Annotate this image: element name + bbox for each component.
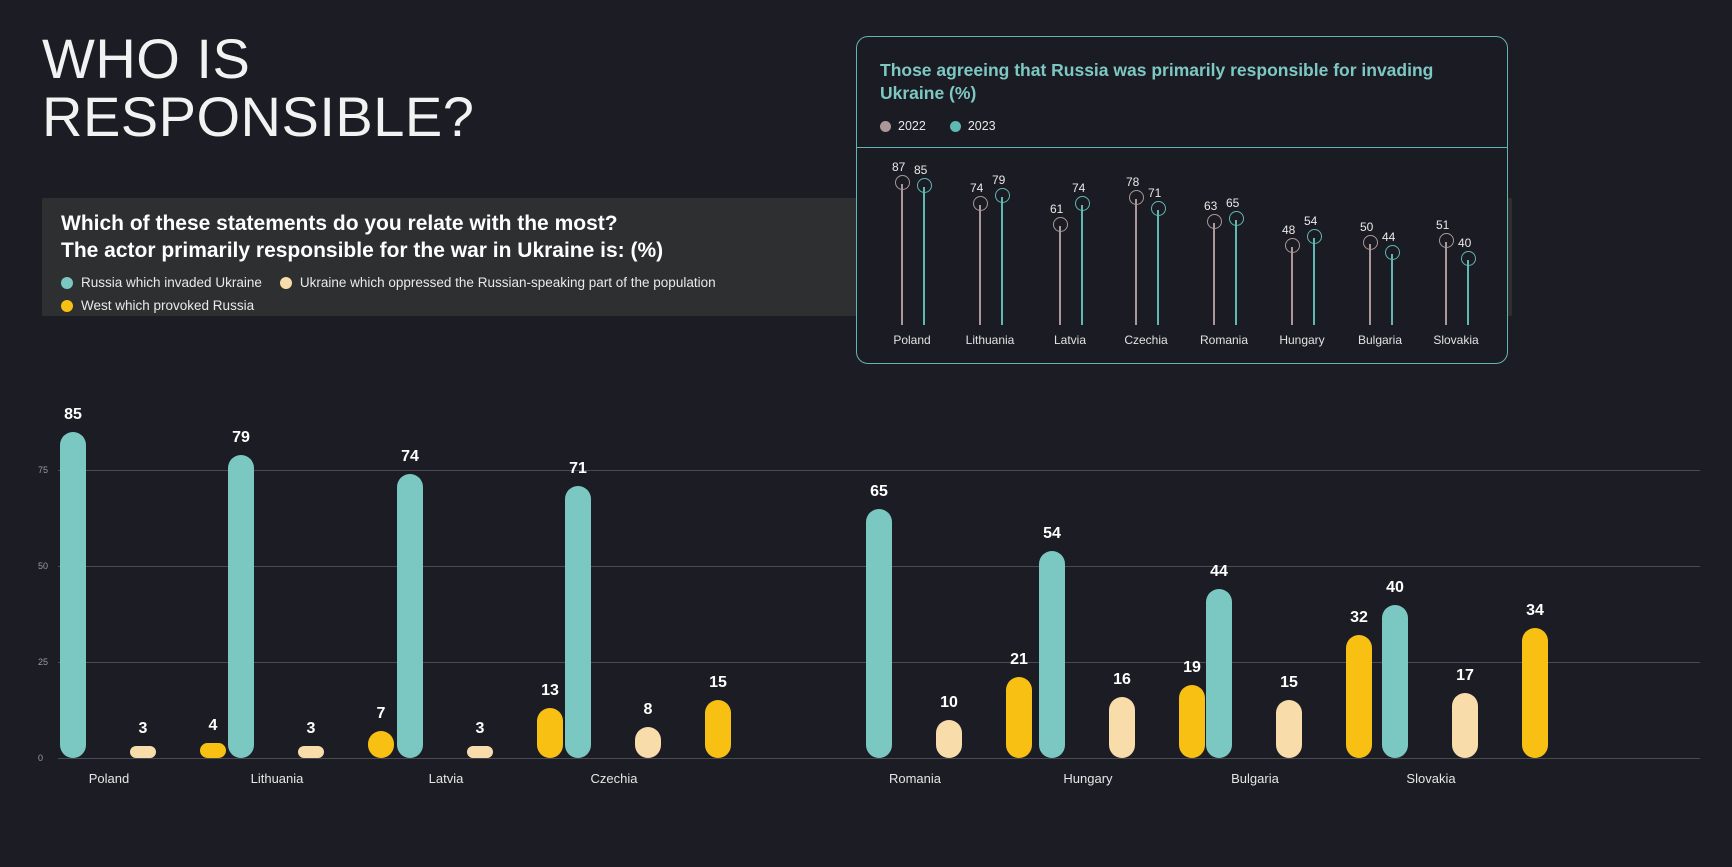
- lollipop-head[interactable]: [973, 196, 988, 211]
- inset-divider: [857, 147, 1507, 148]
- bar-column[interactable]: 3: [298, 390, 324, 758]
- bar[interactable]: [298, 746, 324, 758]
- bar-value-label: 54: [1043, 525, 1061, 543]
- lollipop-value-label: 87: [892, 160, 905, 174]
- lollipop-head[interactable]: [1385, 245, 1400, 260]
- inset-panel: Those agreeing that Russia was primarily…: [856, 36, 1508, 364]
- lollipop-group: 5140Slovakia: [1439, 152, 1509, 363]
- bar-group: 401734Slovakia: [1382, 330, 1542, 800]
- lollipop-stem: [1445, 242, 1447, 325]
- x-axis-category-label: Czechia: [549, 771, 679, 786]
- bar[interactable]: [397, 474, 423, 758]
- legend-label-west: West which provoked Russia: [81, 298, 254, 313]
- lollipop-stem: [1291, 247, 1293, 325]
- lollipop-value-label: 63: [1204, 199, 1217, 213]
- lollipop-head[interactable]: [1129, 190, 1144, 205]
- legend-label-ukraine: Ukraine which oppressed the Russian-spea…: [300, 275, 716, 290]
- bar-plot-area: 8534Poland7937Lithuania74313Latvia71815C…: [58, 330, 1700, 800]
- bar-value-label: 15: [709, 674, 727, 692]
- lollipop-stem: [1213, 223, 1215, 325]
- bar-column[interactable]: 7: [368, 390, 394, 758]
- bar-column[interactable]: 19: [1179, 390, 1205, 758]
- lollipop-head[interactable]: [895, 175, 910, 190]
- bar-group: 541619Hungary: [1039, 330, 1199, 800]
- lollipop-category-label: Lithuania: [959, 333, 1021, 347]
- inset-legend-item-2022[interactable]: 2022: [880, 119, 926, 133]
- inset-legend: 2022 2023: [880, 119, 1020, 133]
- bar-group: 74313Latvia: [397, 330, 557, 800]
- legend-item-ukraine[interactable]: Ukraine which oppressed the Russian-spea…: [280, 275, 716, 290]
- lollipop-stem: [979, 205, 981, 325]
- lollipop-value-label: 61: [1050, 202, 1063, 216]
- bar-value-label: 17: [1456, 667, 1474, 685]
- x-axis-category-label: Latvia: [381, 771, 511, 786]
- lollipop-stem: [1313, 238, 1315, 325]
- lollipop-head[interactable]: [1151, 201, 1166, 216]
- bar[interactable]: [1006, 677, 1032, 758]
- lollipop-group: 8785Poland: [895, 152, 965, 363]
- bar[interactable]: [537, 708, 563, 758]
- bar[interactable]: [1452, 693, 1478, 758]
- bar-value-label: 44: [1210, 563, 1228, 581]
- bar[interactable]: [368, 731, 394, 758]
- bar-value-label: 74: [401, 448, 419, 466]
- lollipop-head[interactable]: [1075, 196, 1090, 211]
- bar-group: 7937Lithuania: [228, 330, 388, 800]
- lollipop-head[interactable]: [1285, 238, 1300, 253]
- y-axis-tick-label: 50: [38, 561, 48, 571]
- y-axis-tick-label: 75: [38, 465, 48, 475]
- bar-column[interactable]: 21: [1006, 390, 1032, 758]
- bar-group: 71815Czechia: [565, 330, 725, 800]
- bar[interactable]: [936, 720, 962, 758]
- bar-column[interactable]: 16: [1109, 390, 1135, 758]
- bar-value-label: 15: [1280, 674, 1298, 692]
- lollipop-head[interactable]: [1207, 214, 1222, 229]
- bar-column[interactable]: 34: [1522, 390, 1548, 758]
- lollipop-stem: [923, 187, 925, 325]
- bar-column[interactable]: 17: [1452, 390, 1478, 758]
- bar[interactable]: [1346, 635, 1372, 758]
- bar[interactable]: [705, 700, 731, 758]
- bar-value-label: 65: [870, 483, 888, 501]
- inset-legend-label-2022: 2022: [898, 119, 926, 133]
- bar-group-bars: 441532: [1206, 390, 1366, 758]
- bar-value-label: 8: [644, 701, 653, 719]
- lollipop-stem: [1369, 244, 1371, 325]
- question-text: Which of these statements do you relate …: [61, 210, 663, 264]
- lollipop-stem: [901, 184, 903, 325]
- lollipop-category-label: Poland: [881, 333, 943, 347]
- bar[interactable]: [1382, 605, 1408, 758]
- legend-swatch-west-icon: [61, 300, 73, 312]
- bar-value-label: 13: [541, 682, 559, 700]
- bar[interactable]: [60, 432, 86, 758]
- bar-value-label: 10: [940, 694, 958, 712]
- bar-column[interactable]: 65: [866, 390, 892, 758]
- lollipop-stem: [1235, 220, 1237, 325]
- bar-value-label: 32: [1350, 609, 1368, 627]
- lollipop-value-label: 51: [1436, 218, 1449, 232]
- bar-column[interactable]: 4: [200, 390, 226, 758]
- bar[interactable]: [635, 727, 661, 758]
- lollipop-value-label: 85: [914, 163, 927, 177]
- bar[interactable]: [1179, 685, 1205, 758]
- bar[interactable]: [130, 746, 156, 758]
- bar-column[interactable]: 15: [1276, 390, 1302, 758]
- bar-group: 8534Poland: [60, 330, 220, 800]
- bar-value-label: 3: [139, 720, 148, 738]
- bar[interactable]: [200, 743, 226, 758]
- lollipop-stem: [1081, 205, 1083, 325]
- bar-value-label: 4: [209, 717, 218, 735]
- bar-column[interactable]: 85: [60, 390, 86, 758]
- x-axis-category-label: Romania: [850, 771, 980, 786]
- lollipop-group: 7479Lithuania: [973, 152, 1043, 363]
- bar[interactable]: [1039, 551, 1065, 758]
- lollipop-category-label: Czechia: [1115, 333, 1177, 347]
- bar-group-bars: 401734: [1382, 390, 1542, 758]
- lollipop-stem: [1001, 197, 1003, 325]
- inset-title: Those agreeing that Russia was primarily…: [880, 59, 1480, 105]
- lollipop-value-label: 65: [1226, 196, 1239, 210]
- lollipop-group: 7871Czechia: [1129, 152, 1199, 363]
- bar-group: 651021Romania: [866, 330, 1026, 800]
- bar-value-label: 3: [476, 720, 485, 738]
- lollipop-stem: [1059, 226, 1061, 325]
- legend-swatch-ukraine-icon: [280, 277, 292, 289]
- bar-column[interactable]: 44: [1206, 390, 1232, 758]
- lollipop-stem: [1135, 199, 1137, 325]
- bar-group-bars: 7937: [228, 390, 388, 758]
- lollipop-stem: [1391, 254, 1393, 325]
- bar[interactable]: [1206, 589, 1232, 758]
- lollipop-head[interactable]: [995, 188, 1010, 203]
- inset-legend-item-2023[interactable]: 2023: [950, 119, 996, 133]
- lollipop-category-label: Bulgaria: [1349, 333, 1411, 347]
- bar-value-label: 79: [232, 429, 250, 447]
- lollipop-head[interactable]: [1229, 211, 1244, 226]
- lollipop-group: 6174Latvia: [1053, 152, 1123, 363]
- x-axis-category-label: Bulgaria: [1190, 771, 1320, 786]
- bar-group: 441532Bulgaria: [1206, 330, 1366, 800]
- bar-column[interactable]: 15: [705, 390, 731, 758]
- inset-legend-swatch-2023-icon: [950, 121, 961, 132]
- bar-column[interactable]: 79: [228, 390, 254, 758]
- lollipop-value-label: 48: [1282, 223, 1295, 237]
- lollipop-value-label: 74: [970, 181, 983, 195]
- lollipop-head[interactable]: [917, 178, 932, 193]
- bar-column[interactable]: 3: [130, 390, 156, 758]
- bar-column[interactable]: 54: [1039, 390, 1065, 758]
- lollipop-category-label: Romania: [1193, 333, 1255, 347]
- lollipop-value-label: 44: [1382, 230, 1395, 244]
- lollipop-group: 4854Hungary: [1285, 152, 1355, 363]
- bar-value-label: 3: [307, 720, 316, 738]
- lollipop-value-label: 50: [1360, 220, 1373, 234]
- bar[interactable]: [565, 486, 591, 758]
- bar-group-bars: 651021: [866, 390, 1026, 758]
- bar-column[interactable]: 8: [635, 390, 661, 758]
- bar-group-bars: 71815: [565, 390, 725, 758]
- lollipop-category-label: Latvia: [1039, 333, 1101, 347]
- bar-column[interactable]: 32: [1346, 390, 1372, 758]
- x-axis-category-label: Lithuania: [212, 771, 342, 786]
- lollipop-head[interactable]: [1439, 233, 1454, 248]
- bar[interactable]: [228, 455, 254, 758]
- inset-legend-swatch-2022-icon: [880, 121, 891, 132]
- bar-value-label: 71: [569, 460, 587, 478]
- bar-group-bars: 541619: [1039, 390, 1199, 758]
- x-axis-category-label: Slovakia: [1366, 771, 1496, 786]
- y-axis-tick-label: 25: [38, 657, 48, 667]
- lollipop-value-label: 74: [1072, 181, 1085, 195]
- lollipop-group: 6365Romania: [1207, 152, 1277, 363]
- bar[interactable]: [467, 746, 493, 758]
- lollipop-head[interactable]: [1363, 235, 1378, 250]
- bar[interactable]: [1109, 697, 1135, 758]
- bar-value-label: 7: [377, 705, 386, 723]
- inset-legend-label-2023: 2023: [968, 119, 996, 133]
- bar-column[interactable]: 71: [565, 390, 591, 758]
- page-title: WHO IS RESPONSIBLE?: [42, 30, 474, 146]
- lollipop-head[interactable]: [1053, 217, 1068, 232]
- lollipop-value-label: 78: [1126, 175, 1139, 189]
- legend-label-russia: Russia which invaded Ukraine: [81, 275, 262, 290]
- bar-group-bars: 74313: [397, 390, 557, 758]
- bar-value-label: 21: [1010, 651, 1028, 669]
- main-bar-chart: 0255075 8534Poland7937Lithuania74313Latv…: [0, 330, 1732, 800]
- legend-item-west[interactable]: West which provoked Russia: [61, 298, 254, 313]
- x-axis-category-label: Hungary: [1023, 771, 1153, 786]
- lollipop-value-label: 40: [1458, 236, 1471, 250]
- lollipop-head[interactable]: [1307, 229, 1322, 244]
- lollipop-value-label: 79: [992, 173, 1005, 187]
- legend-item-russia[interactable]: Russia which invaded Ukraine: [61, 275, 262, 290]
- bar-value-label: 34: [1526, 602, 1544, 620]
- bar-value-label: 16: [1113, 671, 1131, 689]
- lollipop-stem: [1157, 210, 1159, 325]
- lollipop-value-label: 54: [1304, 214, 1317, 228]
- lollipop-category-label: Slovakia: [1425, 333, 1487, 347]
- lollipop-plot-area: 8785Poland7479Lithuania6174Latvia7871Cze…: [867, 152, 1497, 363]
- bar-value-label: 19: [1183, 659, 1201, 677]
- y-axis-tick-label: 0: [38, 753, 43, 763]
- bar[interactable]: [866, 509, 892, 758]
- bar-group-bars: 8534: [60, 390, 220, 758]
- bar-column[interactable]: 40: [1382, 390, 1408, 758]
- lollipop-value-label: 71: [1148, 186, 1161, 200]
- lollipop-group: 5044Bulgaria: [1363, 152, 1433, 363]
- bar[interactable]: [1522, 628, 1548, 758]
- bar-value-label: 40: [1386, 579, 1404, 597]
- bar-column[interactable]: 74: [397, 390, 423, 758]
- bar-value-label: 85: [64, 406, 82, 424]
- lollipop-category-label: Hungary: [1271, 333, 1333, 347]
- bar-column[interactable]: 10: [936, 390, 962, 758]
- legend-swatch-russia-icon: [61, 277, 73, 289]
- bar[interactable]: [1276, 700, 1302, 758]
- lollipop-head[interactable]: [1461, 251, 1476, 266]
- lollipop-stem: [1467, 260, 1469, 325]
- bar-column[interactable]: 3: [467, 390, 493, 758]
- x-axis-category-label: Poland: [44, 771, 174, 786]
- bar-column[interactable]: 13: [537, 390, 563, 758]
